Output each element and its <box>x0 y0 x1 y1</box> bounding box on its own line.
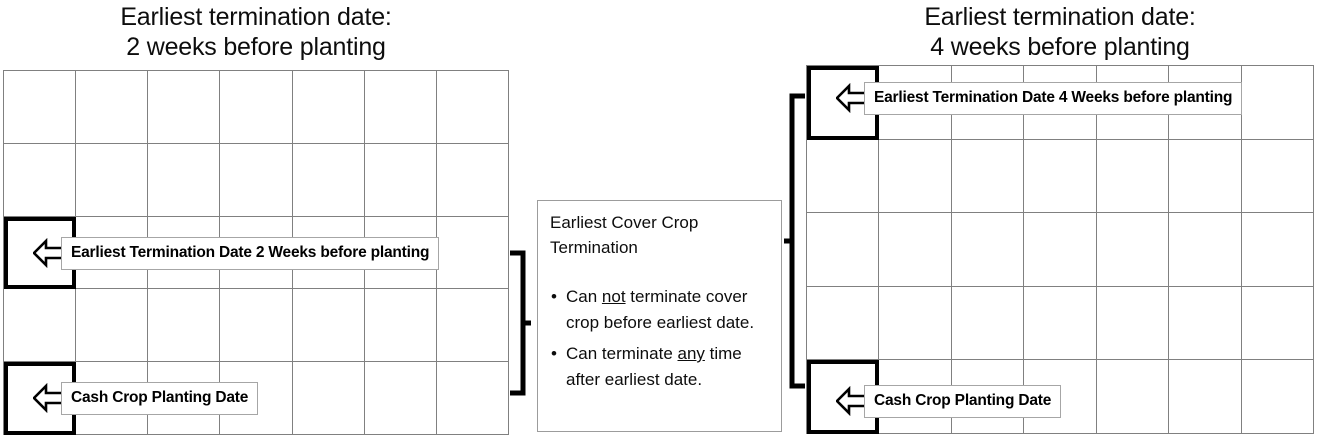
calendar-cell[interactable] <box>365 362 437 435</box>
calendar-cell[interactable] <box>148 289 220 362</box>
left-panel-title-line1: Earliest termination date: <box>3 2 509 32</box>
left-panel-title-line2: 2 weeks before planting <box>3 32 509 62</box>
calendar-cell[interactable] <box>437 289 509 362</box>
calendar-cell[interactable] <box>437 217 509 290</box>
calendar-cell[interactable] <box>1024 287 1096 361</box>
calendar-cell[interactable] <box>1242 66 1314 140</box>
calendar-cell[interactable] <box>365 71 437 144</box>
calendar-cell[interactable] <box>952 140 1024 214</box>
bullet-dot-icon: • <box>551 341 557 367</box>
calendar-cell[interactable] <box>4 144 76 217</box>
info-box-heading: Earliest Cover Crop Termination <box>550 210 771 260</box>
right-termination-callout[interactable]: Earliest Termination Date 4 Weeks before… <box>836 82 1242 115</box>
calendar-cell[interactable] <box>76 144 148 217</box>
calendar-cell[interactable] <box>293 362 365 435</box>
calendar-cell[interactable] <box>879 213 951 287</box>
calendar-cell[interactable] <box>1024 213 1096 287</box>
calendar-cell[interactable] <box>1242 360 1314 434</box>
left-termination-callout-label: Earliest Termination Date 2 Weeks before… <box>61 237 439 270</box>
right-grid-bracket-icon <box>783 92 807 390</box>
info-box: Earliest Cover Crop Termination •Can not… <box>537 200 782 432</box>
calendar-cell[interactable] <box>437 71 509 144</box>
bullet-text-pre: Can terminate <box>566 344 678 363</box>
info-box-bullet-list: •Can not terminate cover crop before ear… <box>550 284 771 393</box>
calendar-cell[interactable] <box>148 144 220 217</box>
calendar-cell[interactable] <box>1097 213 1169 287</box>
calendar-cell[interactable] <box>220 71 292 144</box>
right-panel-title: Earliest termination date: 4 weeks befor… <box>806 2 1314 62</box>
calendar-cell[interactable] <box>1097 287 1169 361</box>
calendar-cell[interactable] <box>1242 213 1314 287</box>
calendar-cell[interactable] <box>1097 140 1169 214</box>
calendar-cell[interactable] <box>293 289 365 362</box>
left-planting-callout[interactable]: Cash Crop Planting Date <box>33 382 258 415</box>
right-planting-callout[interactable]: Cash Crop Planting Date <box>836 385 1061 418</box>
calendar-cell[interactable] <box>293 144 365 217</box>
calendar-cell[interactable] <box>365 289 437 362</box>
calendar-cell[interactable] <box>952 287 1024 361</box>
calendar-cell[interactable] <box>879 140 951 214</box>
calendar-cell[interactable] <box>879 287 951 361</box>
bullet-text-emphasis: not <box>602 287 626 306</box>
left-planting-callout-label: Cash Crop Planting Date <box>61 382 258 415</box>
bullet-dot-icon: • <box>551 284 557 310</box>
info-box-bullet-item: •Can not terminate cover crop before ear… <box>550 284 771 336</box>
calendar-cell[interactable] <box>365 144 437 217</box>
calendar-cell[interactable] <box>220 144 292 217</box>
calendar-cell[interactable] <box>1169 140 1241 214</box>
right-planting-callout-label: Cash Crop Planting Date <box>864 385 1061 418</box>
calendar-cell[interactable] <box>1169 287 1241 361</box>
bullet-text-emphasis: any <box>678 344 705 363</box>
bullet-text-pre: Can <box>566 287 602 306</box>
calendar-cell[interactable] <box>148 71 220 144</box>
calendar-cell[interactable] <box>1242 140 1314 214</box>
calendar-cell[interactable] <box>807 140 879 214</box>
right-calendar-grid <box>806 65 1314 434</box>
left-grid-bracket-icon <box>508 249 532 397</box>
calendar-cell[interactable] <box>220 289 292 362</box>
calendar-cell[interactable] <box>1242 287 1314 361</box>
calendar-cell[interactable] <box>76 71 148 144</box>
calendar-cell[interactable] <box>4 71 76 144</box>
calendar-cell[interactable] <box>4 289 76 362</box>
calendar-cell[interactable] <box>952 213 1024 287</box>
calendar-cell[interactable] <box>807 287 879 361</box>
left-termination-callout[interactable]: Earliest Termination Date 2 Weeks before… <box>33 237 439 270</box>
calendar-cell[interactable] <box>1169 213 1241 287</box>
calendar-cell[interactable] <box>807 213 879 287</box>
calendar-cell[interactable] <box>437 144 509 217</box>
left-panel-title: Earliest termination date: 2 weeks befor… <box>3 2 509 62</box>
info-box-bullet-item: •Can terminate any time after earliest d… <box>550 341 771 393</box>
right-termination-callout-label: Earliest Termination Date 4 Weeks before… <box>864 82 1242 115</box>
right-panel-title-line2: 4 weeks before planting <box>806 32 1314 62</box>
calendar-cell[interactable] <box>437 362 509 435</box>
calendar-cell[interactable] <box>293 71 365 144</box>
calendar-cell[interactable] <box>76 289 148 362</box>
calendar-cell[interactable] <box>1169 360 1241 434</box>
calendar-cell[interactable] <box>1097 360 1169 434</box>
calendar-cell[interactable] <box>1024 140 1096 214</box>
right-panel-title-line1: Earliest termination date: <box>806 2 1314 32</box>
